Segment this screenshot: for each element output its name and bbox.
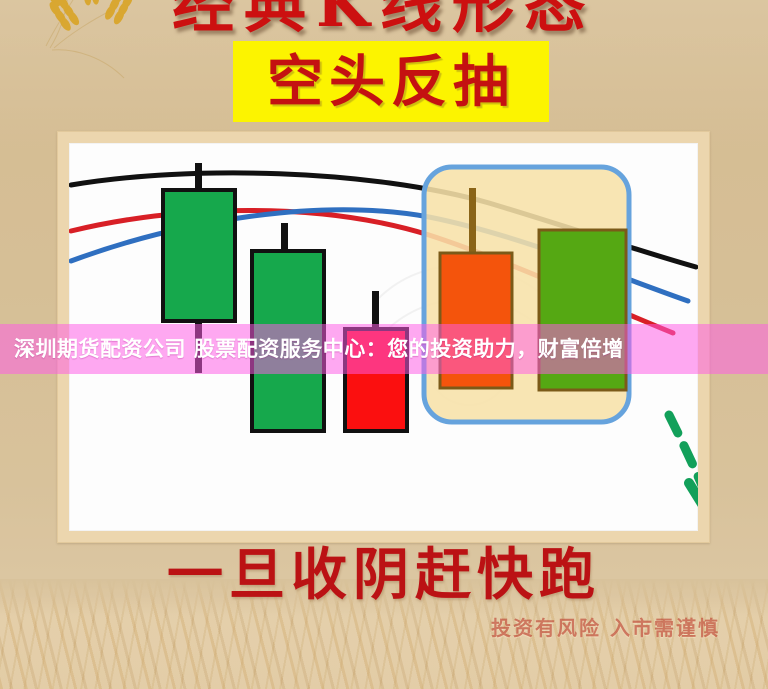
promo-banner-text: 深圳期货配资公司 股票配资服务中心：您的投资助力，财富倍增 xyxy=(0,324,624,374)
poster-title-top: 经典K线形态 xyxy=(0,0,768,44)
risk-disclaimer: 投资有风险 入市需谨慎 xyxy=(0,612,768,644)
headline-text: 空头反抽 xyxy=(267,54,515,110)
down-arrow-annotation xyxy=(669,415,698,515)
poster-root: 经典K线形态 空头反抽 xyxy=(0,0,768,689)
poster-title-bottom: 一旦收阴赶快跑 xyxy=(0,540,768,610)
promo-banner[interactable]: 深圳期货配资公司 股票配资服务中心：您的投资助力，财富倍增 xyxy=(0,324,768,374)
headline-box: 空头反抽 xyxy=(233,41,549,122)
